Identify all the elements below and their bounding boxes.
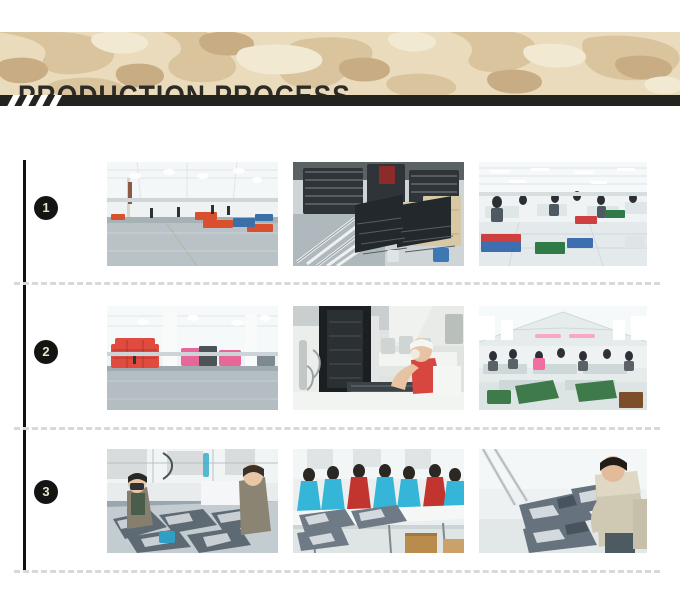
page-title: PRODUCTION PROCESS bbox=[18, 82, 351, 95]
process-photo bbox=[293, 449, 464, 553]
row-separator bbox=[14, 427, 660, 430]
process-photo bbox=[107, 449, 278, 553]
slash-stripe-icon bbox=[5, 95, 23, 106]
process-row-1 bbox=[107, 162, 647, 266]
process-photo bbox=[107, 162, 278, 266]
step-badge-2: 2 bbox=[34, 340, 58, 364]
slash-stripe-icon bbox=[19, 95, 37, 106]
banner-accent-bar bbox=[0, 95, 680, 106]
row-separator bbox=[14, 282, 660, 285]
process-photo bbox=[479, 449, 647, 553]
process-photo bbox=[107, 306, 278, 410]
process-photo bbox=[293, 162, 464, 266]
slash-stripe-icon bbox=[33, 95, 51, 106]
process-photo bbox=[293, 306, 464, 410]
slash-stripe-icon bbox=[47, 95, 65, 106]
timeline-vertical-rule bbox=[23, 160, 26, 570]
process-photo bbox=[479, 306, 647, 410]
page-banner: PRODUCTION PROCESS bbox=[0, 32, 680, 95]
row-separator bbox=[14, 570, 660, 573]
step-badge-3: 3 bbox=[34, 480, 58, 504]
process-photo bbox=[479, 162, 647, 266]
process-row-3 bbox=[107, 449, 647, 553]
process-row-2 bbox=[107, 306, 647, 410]
step-badge-1: 1 bbox=[34, 196, 58, 220]
